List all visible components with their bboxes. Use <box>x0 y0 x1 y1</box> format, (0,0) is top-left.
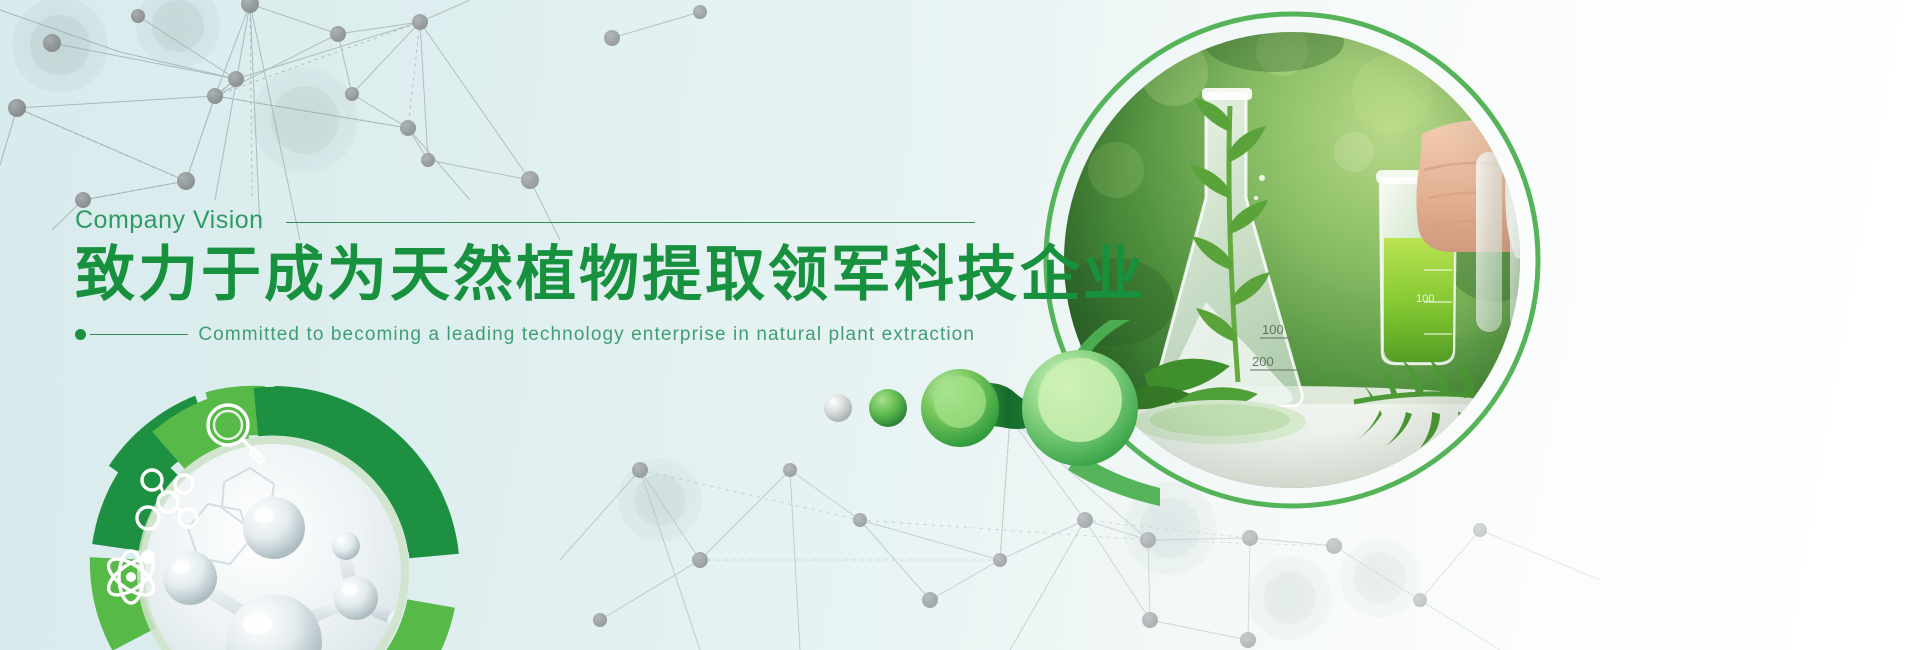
sphere-small-green <box>869 389 907 427</box>
company-vision-banner: 100 200 <box>0 0 1920 650</box>
eyebrow-divider <box>286 222 975 223</box>
vision-text-block: Company Vision 致力于成为天然植物提取领军科技企业 Committ… <box>75 205 975 346</box>
sphere-small-gray <box>824 394 852 422</box>
network-lines-top-dashed <box>17 4 420 200</box>
page-subtitle: Committed to becoming a leading technolo… <box>198 324 975 346</box>
eyebrow-label: Company Vision <box>75 206 264 235</box>
eyebrow-row: Company Vision <box>75 205 975 235</box>
sphere-large-highlight <box>1038 358 1122 442</box>
capability-donut-chart <box>78 332 468 650</box>
network-lines-top <box>0 0 700 240</box>
molecule-spheres-decoration <box>800 320 1160 520</box>
halo-circles-top <box>12 0 358 173</box>
sphere-medium-highlight <box>934 376 986 428</box>
bullet-dot-icon <box>75 329 86 340</box>
subtitle-divider <box>90 334 188 335</box>
page-title: 致力于成为天然植物提取领军科技企业 <box>75 243 975 308</box>
subtitle-row: Committed to becoming a leading technolo… <box>75 324 975 346</box>
network-nodes-top <box>8 0 707 208</box>
